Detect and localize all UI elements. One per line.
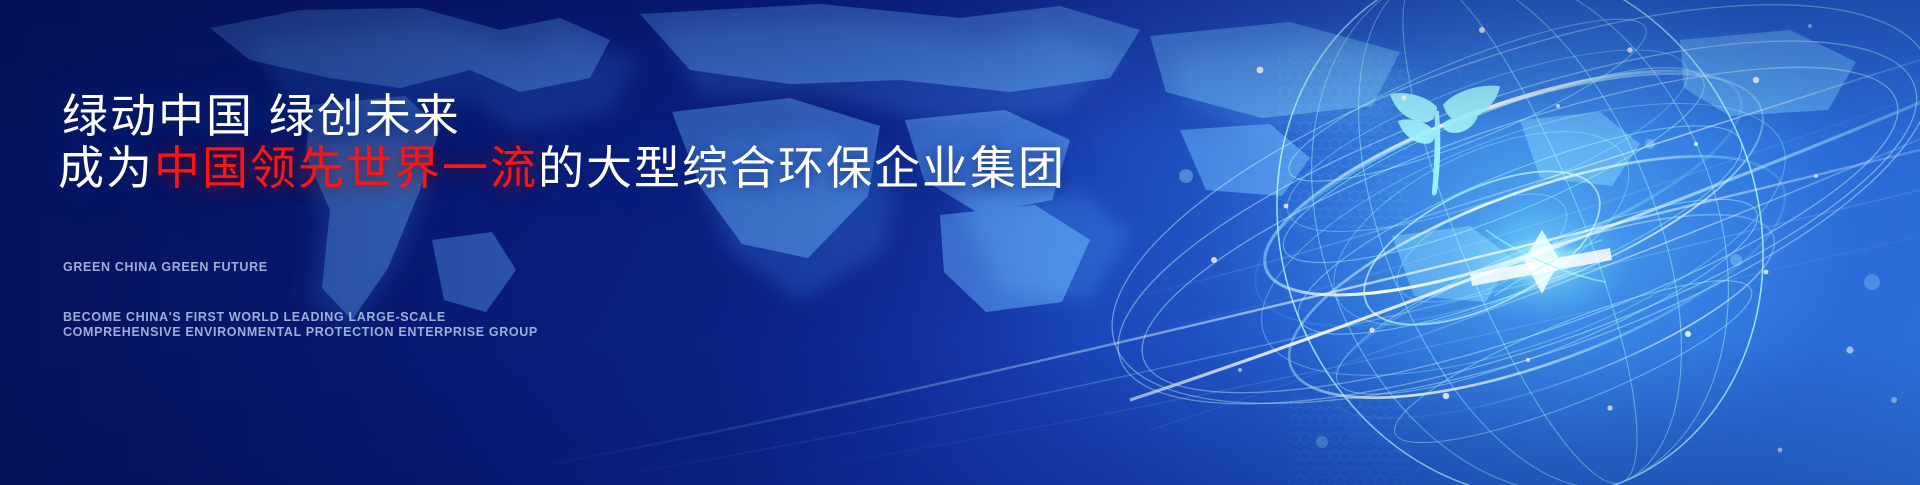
kicker-line-1: GREEN CHINA (63, 260, 157, 274)
wireframe-globe (1090, 0, 1920, 485)
headline-accent: 中国领先世界一流 (154, 142, 538, 194)
particle-dots (1211, 0, 1897, 485)
kicker-english: GREEN CHINA GREEN FUTURE (63, 260, 268, 275)
subline-line-1: BECOME CHINA'S FIRST WORLD LEADING LARGE… (63, 310, 538, 325)
subline-line-2: COMPREHENSIVE ENVIRONMENTAL PROTECTION E… (63, 325, 538, 340)
kicker-line-2: GREEN FUTURE (161, 260, 267, 274)
banner-copy: 绿动中国 绿创未来 成为中国领先世界一流的大型综合环保企业集团 GREEN CH… (58, 0, 1058, 485)
subline-english: BECOME CHINA'S FIRST WORLD LEADING LARGE… (63, 310, 538, 339)
headline-suffix: 的大型综合环保企业集团 (538, 142, 1066, 194)
headline-line-2: 成为中国领先世界一流的大型综合环保企业集团 (58, 132, 1066, 198)
center-light-flare (1450, 200, 1634, 324)
hero-banner: 绿动中国 绿创未来 成为中国领先世界一流的大型综合环保企业集团 GREEN CH… (0, 0, 1920, 485)
particle-glow-dots (1179, 139, 1880, 448)
sprout-leaf-icon (1390, 86, 1500, 196)
headline-prefix: 成为 (58, 142, 154, 194)
